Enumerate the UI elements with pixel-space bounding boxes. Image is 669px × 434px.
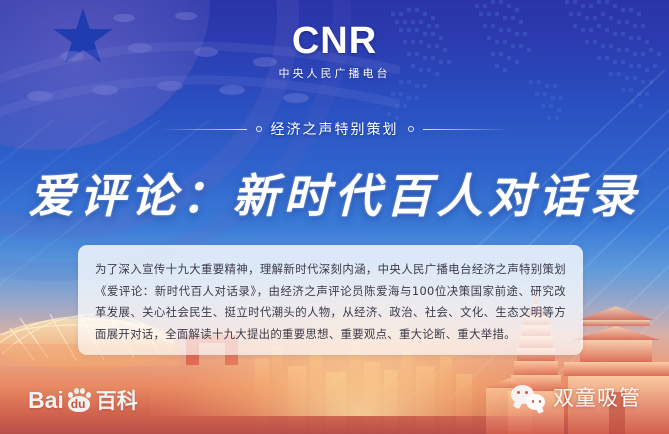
wechat-icon [511, 385, 545, 410]
ribbon-label: 经济之声特别策划 [271, 119, 399, 139]
ribbon-rule-right [423, 129, 509, 130]
ribbon-dot-left-icon [256, 126, 262, 132]
program-ribbon: 经济之声特别策划 [0, 118, 669, 140]
ribbon-rule-left [161, 129, 247, 130]
baidu-du-text: du [71, 397, 86, 411]
description-panel: 为了深入宣传十九大重要精神，理解新时代深刻内涵，中央人民广播电台经济之声特别策划… [78, 245, 583, 355]
wechat-watermark[interactable]: 双童吸管 [511, 382, 641, 412]
baidu-baike-text: 百科 [96, 391, 138, 412]
description-text: 为了深入宣传十九大重要精神，理解新时代深刻内涵，中央人民广播电台经济之声特别策划… [95, 259, 566, 345]
poster-canvas: CNR 中央人民广播电台 经济之声特别策划 爱评论：新时代百人对话录 为了深入宣… [0, 0, 669, 434]
page-title: 爱评论：新时代百人对话录 [0, 160, 669, 226]
cnr-logo: CNR 中央人民广播电台 [0, 22, 669, 81]
cnr-logo-mark: CNR [0, 22, 669, 60]
wechat-account-name: 双童吸管 [553, 382, 641, 412]
cnr-logo-subtitle: 中央人民广播电台 [0, 65, 669, 81]
baidu-bai-text: Bai [28, 389, 64, 412]
ribbon-dot-right-icon [408, 126, 414, 132]
paw-icon: du [66, 386, 92, 412]
baidu-baike-logo[interactable]: Bai du 百科 [28, 386, 138, 412]
